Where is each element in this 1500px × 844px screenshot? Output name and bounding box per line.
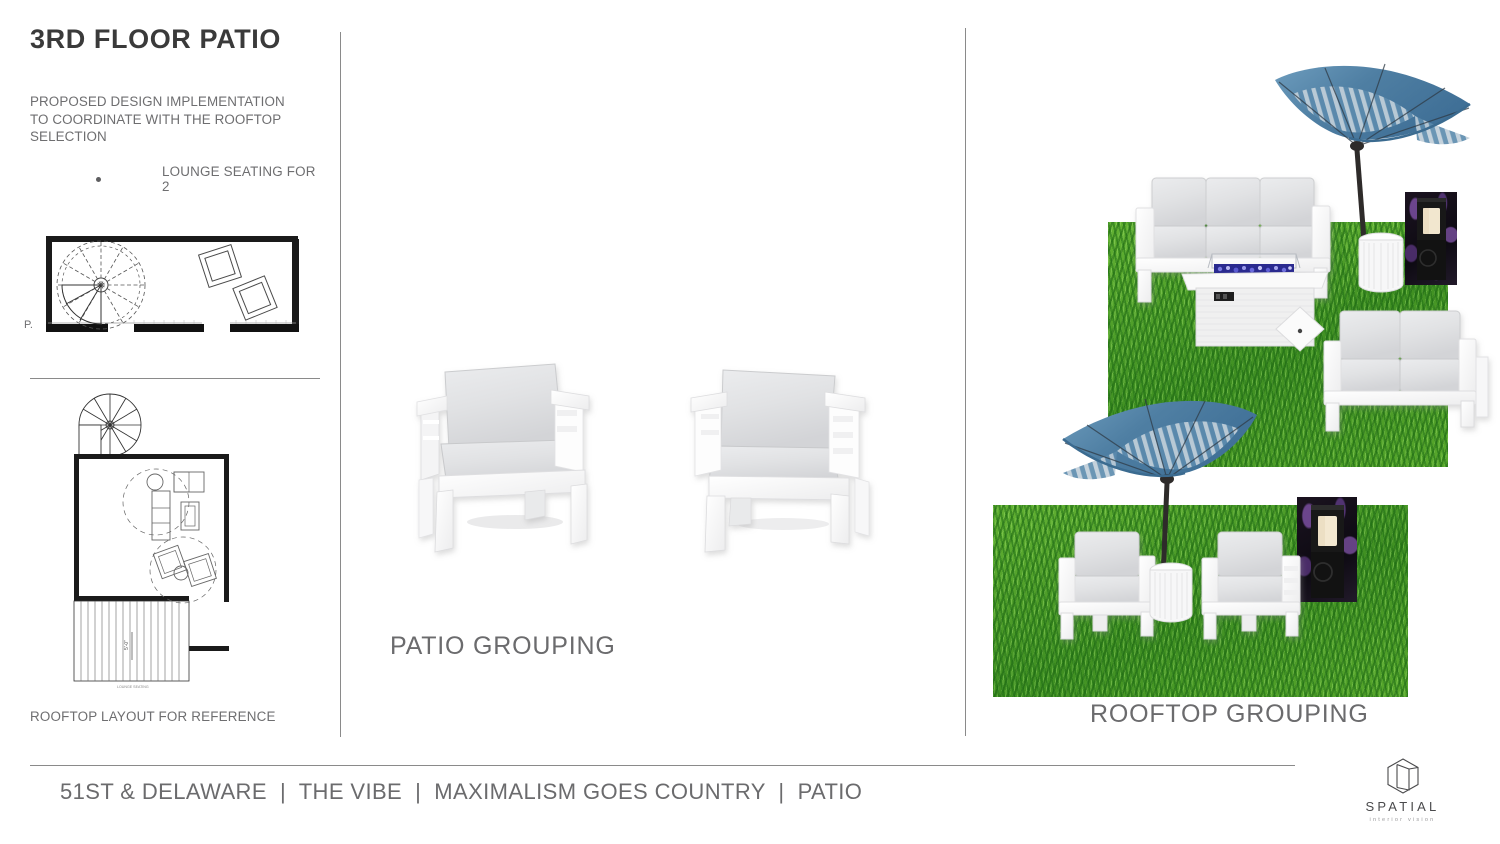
floorplan-3rd-floor-patio: P. — [24, 228, 314, 353]
divider-footer — [30, 765, 1295, 766]
page-title: 3RD FLOOR PATIO — [30, 24, 281, 55]
hexagon-cube-icon — [1385, 757, 1421, 795]
loveseat-two-seat-white — [1318, 305, 1498, 430]
divider-center-right — [965, 28, 966, 736]
brand-logo: SPATIAL interior vision — [1355, 757, 1450, 823]
logo-tagline: interior vision — [1355, 817, 1450, 823]
logo-wordmark: SPATIAL — [1355, 799, 1450, 814]
divider-left-sections — [30, 378, 320, 379]
rooftop-grouping-label: ROOFTOP GROUPING — [1090, 700, 1369, 729]
lounge-chair-right — [673, 352, 888, 557]
floorplan-note-label: LOUNGE SEATING — [117, 685, 149, 689]
footer-breadcrumb: 51ST & DELAWARE | THE VIBE | MAXIMALISM … — [60, 779, 862, 805]
page-subtitle: PROPOSED DESIGN IMPLEMENTATION TO COORDI… — [30, 93, 305, 146]
floorplan-dimension-label: 5'-0" — [124, 640, 130, 650]
side-table-fluted-lower — [1148, 562, 1194, 626]
floorplan-edge-label: P. — [24, 319, 33, 331]
bullet-label: LOUNGE SEATING FOR 2 — [162, 164, 320, 194]
divider-left-center — [340, 32, 341, 737]
bullet-dot-icon — [96, 177, 101, 182]
rooftop-lounge-chair-right — [1196, 528, 1321, 643]
lounge-chair-left — [405, 352, 620, 557]
patio-grouping-label: PATIO GROUPING — [390, 632, 616, 661]
bullet-list: LOUNGE SEATING FOR 2 — [30, 164, 320, 194]
side-table-fluted-upper — [1357, 232, 1405, 296]
rooftop-layout-caption: ROOFTOP LAYOUT FOR REFERENCE — [30, 709, 276, 724]
slide-canvas: 3RD FLOOR PATIO PROPOSED DESIGN IMPLEMEN… — [0, 0, 1500, 844]
list-item: LOUNGE SEATING FOR 2 — [30, 164, 320, 194]
floorplan-rooftop-layout: 5'-0" LOUNGE SEATING — [24, 392, 314, 697]
